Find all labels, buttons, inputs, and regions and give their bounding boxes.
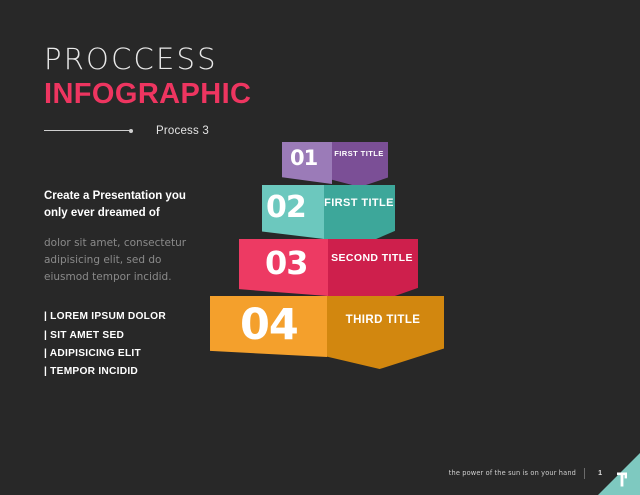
- level-04-title: THIRD TITLE: [327, 313, 439, 328]
- level-03-title: SECOND TITLE: [328, 252, 416, 266]
- footer-tagline: the power of the sun is on your hand: [449, 469, 576, 477]
- level-02-title: FIRST TITLE: [324, 196, 394, 210]
- level-01-number: 01: [290, 146, 317, 170]
- pyramid-diagram: Lorem me ipsum dolor sitrty amet, consec…: [0, 0, 640, 495]
- level-03-right-face: [328, 239, 418, 305]
- level-04-right-face: [327, 296, 444, 369]
- brand-logo-icon: [615, 472, 629, 487]
- page-number: 1: [598, 470, 602, 477]
- level-03-number: 03: [265, 244, 308, 282]
- level-04-number: 04: [240, 300, 298, 350]
- footer-divider: [584, 468, 585, 479]
- level-02-right-face: [324, 185, 395, 247]
- level-01-title: FIRST TITLE: [332, 149, 386, 159]
- level-02-number: 02: [266, 190, 306, 225]
